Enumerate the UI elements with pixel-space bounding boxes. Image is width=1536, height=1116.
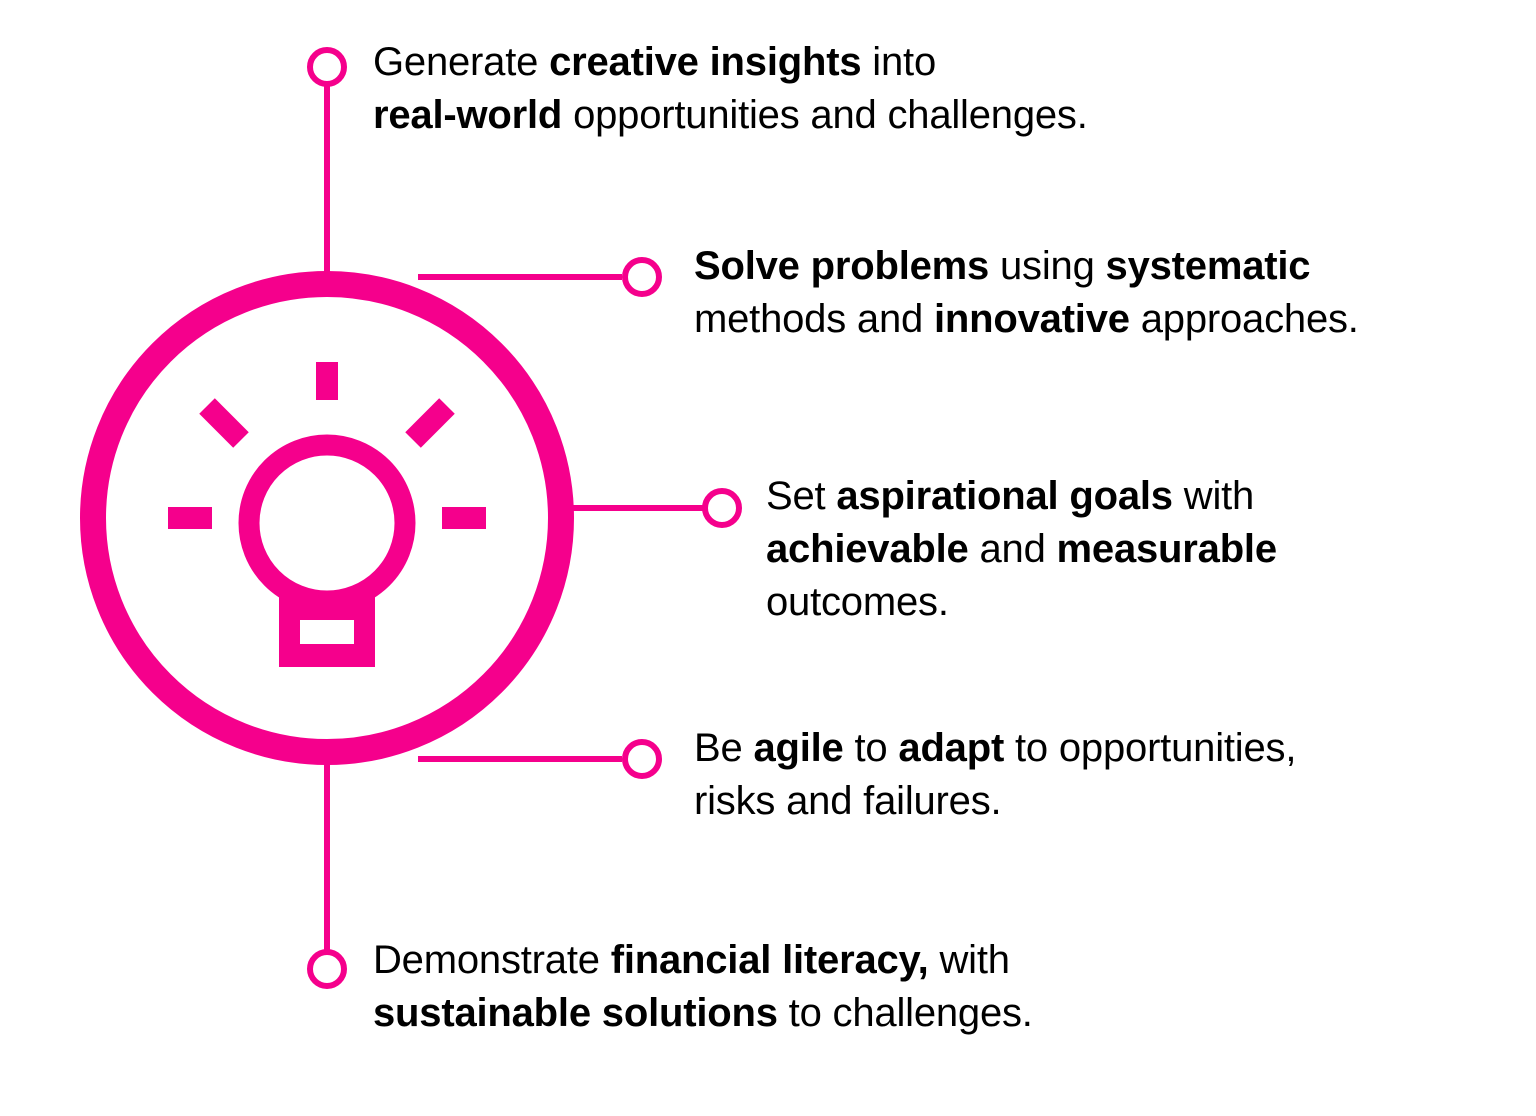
plain-text: risks and failures. [694,779,1001,823]
emphasis-text: aspirational goals [836,474,1173,518]
emphasis-text: Solve problems [694,244,989,288]
infographic-root: Generate creative insights intoreal-worl… [0,0,1536,1116]
plain-text: to [844,726,899,770]
plain-text: to challenges. [778,991,1033,1035]
plain-text: approaches. [1130,297,1359,341]
plain-text: Set [766,474,836,518]
plain-text: with [929,938,1010,982]
plain-text: Generate [373,40,549,84]
plain-text: Demonstrate [373,938,611,982]
plain-text: with [1173,474,1254,518]
plain-text: Be [694,726,753,770]
plain-text: and [969,527,1057,571]
emphasis-text: creative insights [549,40,861,84]
node-marker-4[interactable] [625,742,659,776]
node-marker-1[interactable] [310,50,344,84]
emphasis-text: measurable [1057,527,1277,571]
plain-text: methods and [694,297,934,341]
plain-text: into [861,40,936,84]
callout-text-be-agile: Be agile to adapt to opportunities,risks… [694,722,1414,828]
emphasis-text: adapt [898,726,1004,770]
emphasis-text: real-world [373,93,562,137]
callout-text-financial-literacy: Demonstrate financial literacy, withsust… [373,934,1133,1040]
callout-text-aspirational-goals: Set aspirational goals withachievable an… [766,470,1406,629]
emphasis-text: agile [753,726,843,770]
lightbulb-icon [168,362,486,667]
node-marker-3[interactable] [705,491,739,525]
plain-text: using [989,244,1105,288]
plain-text: outcomes. [766,580,949,624]
emphasis-text: sustainable solutions [373,991,778,1035]
emphasis-text: innovative [934,297,1130,341]
hub-ring [93,284,561,752]
plain-text: opportunities and challenges. [562,93,1088,137]
callout-text-creative-insights: Generate creative insights intoreal-worl… [373,36,1173,142]
emphasis-text: financial literacy, [611,938,929,982]
emphasis-text: achievable [766,527,969,571]
callout-text-solve-problems: Solve problems using systematicmethods a… [694,240,1484,346]
emphasis-text: systematic [1106,244,1311,288]
plain-text: to opportunities, [1004,726,1296,770]
node-marker-2[interactable] [625,260,659,294]
node-marker-5[interactable] [310,952,344,986]
